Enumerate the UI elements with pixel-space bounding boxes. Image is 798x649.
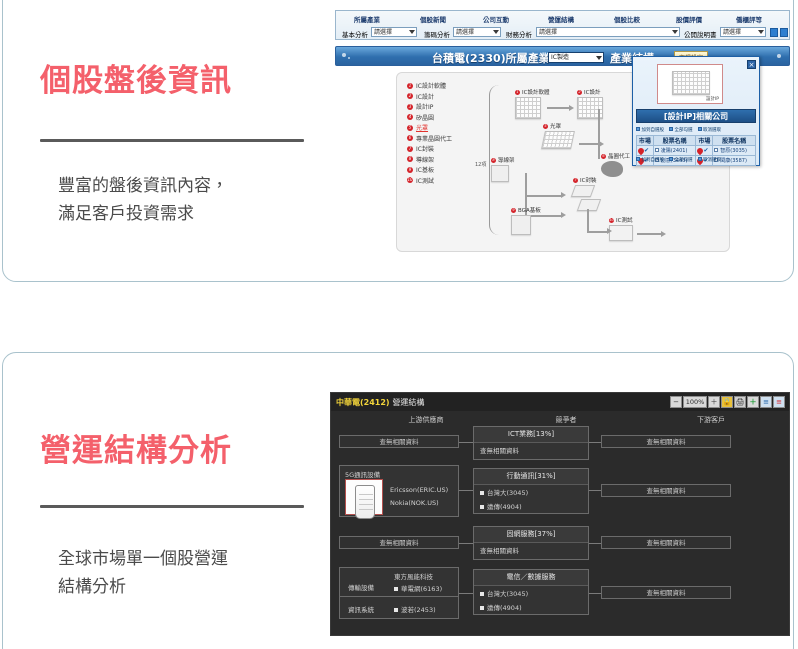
upstream-empty-1[interactable]: 查無相關資料 bbox=[339, 435, 459, 448]
zoom-in-button[interactable]: ＋ bbox=[708, 396, 720, 408]
upstream-card-5g[interactable]: 5G通訊設備 Ericsson(ERIC.US) Nokia(NOK.US) bbox=[339, 465, 459, 517]
col-stock-2: 股票名稱 bbox=[713, 136, 756, 146]
print-icon[interactable]: 🖨 bbox=[734, 396, 746, 408]
divider-bottom bbox=[40, 505, 304, 508]
clear-button[interactable] bbox=[780, 28, 788, 37]
segment-box-telecom[interactable]: 電信／數據服務 台灣大(3045) 遠傳(4904) bbox=[473, 569, 589, 615]
popup-thumbnail: 設計IP bbox=[657, 64, 723, 104]
vendor-name[interactable]: Ericsson(ERIC.US) bbox=[390, 486, 448, 494]
tab-operations[interactable]: 營運結構 bbox=[548, 14, 574, 24]
segment-row: 查無相關資料 bbox=[474, 543, 588, 557]
segment-label: 光罩 bbox=[416, 123, 428, 132]
page-title-bottom: 營運結構分析 bbox=[40, 425, 232, 470]
connector-line bbox=[459, 442, 473, 443]
segment-title: ICT業務[13%] bbox=[474, 427, 588, 443]
segment-item[interactable]: 7IC封裝 bbox=[407, 144, 452, 153]
segment-label: IC設計 bbox=[416, 92, 434, 101]
close-icon[interactable]: × bbox=[747, 60, 756, 69]
selector-tabs-row: 所屬產業 個股新聞 公司互動 營運結構 個股比較 股價評價 僑櫃評等 bbox=[336, 13, 789, 25]
table-header-row: 市場 股票名稱 市場 股票名稱 bbox=[637, 136, 756, 146]
segment-label: 專業晶圓代工 bbox=[416, 134, 452, 143]
selector-inputs-row: 基本分析 請選擇 籌碼分析 請選擇 財務分析 請選擇 公開說明書 請選擇 bbox=[336, 26, 789, 40]
segment-row[interactable]: 遠傳(4904) bbox=[474, 499, 588, 513]
downstream-empty-4[interactable]: 查無相關資料 bbox=[601, 586, 731, 599]
zoom-level-value[interactable]: 100% bbox=[683, 396, 707, 408]
app-title: 中華電(2412) 營運結構 bbox=[336, 397, 424, 408]
segment-label: IC設計軟體 bbox=[416, 81, 446, 90]
node-label: IC設計 bbox=[584, 88, 600, 96]
supplier-company[interactable]: 東方風能科技 bbox=[394, 571, 433, 581]
segment-item[interactable]: 3設計IP bbox=[407, 102, 452, 111]
column-header-upstream: 上游供應商 bbox=[361, 415, 491, 425]
vendor-name[interactable]: Nokia(NOK.US) bbox=[390, 499, 439, 507]
lock-icon[interactable]: 🔒 bbox=[721, 396, 733, 408]
node-label: IC測試 bbox=[616, 216, 632, 224]
label-prospectus: 公開說明書 bbox=[684, 29, 717, 39]
footer-action-deselect[interactable]: 取消選取 bbox=[698, 157, 722, 163]
upstream-empty-3[interactable]: 查無相關資料 bbox=[339, 536, 459, 549]
tab-compare[interactable]: 個股比較 bbox=[614, 14, 640, 24]
dark-app-header: 中華電(2412) 營運結構 − 100% ＋ 🔒 🖨 ＋ ≡ ≡ bbox=[331, 393, 789, 411]
segment-row: 查無相關資料 bbox=[474, 443, 588, 457]
stock-code: 中華電(2412) bbox=[336, 398, 390, 407]
router-image bbox=[345, 479, 383, 515]
list-alt-icon[interactable]: ≡ bbox=[773, 396, 785, 408]
tab-rating[interactable]: 僑櫃評等 bbox=[736, 14, 762, 24]
footer-action-add[interactable]: 加到自選股 bbox=[636, 157, 664, 163]
segment-label: 導線架 bbox=[416, 155, 434, 164]
zoom-out-button[interactable]: − bbox=[670, 396, 682, 408]
segment-title: 電信／數據服務 bbox=[474, 570, 588, 586]
connector-line bbox=[589, 543, 601, 544]
divider-top bbox=[40, 139, 304, 142]
connector-line bbox=[589, 490, 601, 491]
industry-select[interactable]: IC製造 bbox=[548, 52, 604, 63]
connector-line bbox=[459, 490, 473, 491]
industry-title: 台積電(2330)所屬產業 bbox=[432, 50, 550, 66]
screenshot-operating-structure: 中華電(2412) 營運結構 − 100% ＋ 🔒 🖨 ＋ ≡ ≡ 上游供應商 … bbox=[330, 392, 790, 636]
segment-box-fixedline[interactable]: 固網服務[37%] 查無相關資料 bbox=[473, 526, 589, 560]
tab-industry[interactable]: 所屬產業 bbox=[354, 14, 380, 24]
node-label: 導線架 bbox=[498, 156, 515, 164]
add-icon[interactable]: ＋ bbox=[747, 396, 759, 408]
column-header-competitor: 競爭者 bbox=[511, 415, 621, 425]
tab-valuation[interactable]: 股價評價 bbox=[676, 14, 702, 24]
select-financial-analysis[interactable]: 請選擇 bbox=[536, 27, 680, 37]
col-stock-1: 股票名稱 bbox=[653, 136, 696, 146]
node-label: IC封裝 bbox=[580, 176, 596, 184]
upstream-table[interactable]: 傳輸設備 東方風能科技 華電網(6163) 資訊系統 波若(2453) bbox=[339, 567, 459, 619]
segment-item[interactable]: 6專業晶圓代工 bbox=[407, 134, 452, 143]
arrow-connector bbox=[637, 233, 661, 235]
segment-label: 設計IP bbox=[416, 102, 433, 111]
segment-label: IC封裝 bbox=[416, 144, 434, 153]
related-companies-popup: × 設計IP [設計IP]相關公司 加到自選股 全部勾選 取消選取 市場 股票名… bbox=[632, 56, 760, 166]
connector-line bbox=[589, 442, 601, 443]
label-basic-analysis: 基本分析 bbox=[342, 29, 368, 39]
node-leadframe[interactable]: 8導線架 bbox=[491, 165, 509, 182]
action-deselect[interactable]: 取消選取 bbox=[698, 127, 722, 133]
segment-list: 1IC設計軟體 2IC設計 3設計IP 4矽晶圓 5光罩 6專業晶圓代工 7IC… bbox=[407, 81, 452, 186]
market-cell: ✔ bbox=[637, 146, 654, 156]
segment-count-label: 12項 bbox=[475, 161, 486, 168]
list-icon[interactable]: ≡ bbox=[760, 396, 772, 408]
segment-box-ict[interactable]: ICT業務[13%] 查無相關資料 bbox=[473, 426, 589, 460]
description-top: 豐富的盤後資訊內容， 滿足客戶投資需求 bbox=[58, 172, 338, 228]
stock-cell[interactable]: 凌陽(2401) bbox=[653, 146, 696, 156]
segment-row[interactable]: 台灣大(3045) bbox=[474, 485, 588, 499]
market-cell: ✔ bbox=[696, 146, 713, 156]
connector-line bbox=[589, 593, 601, 594]
node-label: 晶圓代工 bbox=[608, 152, 630, 160]
segment-item[interactable]: 2IC設計 bbox=[407, 92, 452, 101]
select-prospectus[interactable]: 請選擇 bbox=[720, 27, 766, 37]
segment-label: IC基板 bbox=[416, 165, 434, 174]
label-chip-analysis: 籌碼分析 bbox=[424, 29, 450, 39]
popup-title: [設計IP]相關公司 bbox=[636, 109, 756, 123]
footer-action-select-all[interactable]: 全部勾選 bbox=[669, 157, 693, 163]
toolbar: − 100% ＋ 🔒 🖨 ＋ ≡ ≡ bbox=[670, 396, 785, 408]
segment-item[interactable]: 1IC設計軟體 bbox=[407, 81, 452, 90]
col-market-2: 市場 bbox=[696, 136, 713, 146]
select-chip-analysis[interactable]: 請選擇 bbox=[453, 27, 501, 37]
supplier-category: 資訊系統 bbox=[348, 604, 374, 614]
arrow-connector bbox=[587, 209, 607, 233]
segment-title: 固網服務[37%] bbox=[474, 527, 588, 543]
action-select-all[interactable]: 全部勾選 bbox=[669, 127, 693, 133]
downstream-empty-3[interactable]: 查無相關資料 bbox=[601, 536, 731, 549]
arrow-connector bbox=[525, 173, 561, 197]
segment-item[interactable]: 9IC基板 bbox=[407, 165, 452, 174]
arrow-connector bbox=[547, 107, 569, 109]
supplier-stock[interactable]: 波若(2453) bbox=[394, 604, 436, 614]
segment-title: 行動通訊[31%] bbox=[474, 469, 588, 485]
page-title-top: 個股盤後資訊 bbox=[40, 55, 232, 100]
node-photomask[interactable]: 5光罩 bbox=[543, 131, 573, 149]
arrow-connector bbox=[598, 109, 600, 159]
column-header-downstream: 下游客戶 bbox=[651, 415, 771, 425]
segment-label: 矽晶圓 bbox=[416, 113, 434, 122]
select-basic-analysis[interactable]: 請選擇 bbox=[371, 27, 417, 37]
go-button[interactable] bbox=[770, 28, 778, 37]
screenshot-stock-industry: 所屬產業 個股新聞 公司互動 營運結構 個股比較 股價評價 僑櫃評等 基本分析 … bbox=[332, 8, 792, 258]
node-label: BGA基板 bbox=[518, 206, 541, 214]
segment-item[interactable]: 10IC測試 bbox=[407, 176, 452, 185]
arrow-connector bbox=[579, 143, 599, 145]
popup-actions: 加到自選股 全部勾選 取消選取 bbox=[636, 125, 756, 134]
segment-item-selected[interactable]: 5光罩 bbox=[407, 123, 452, 132]
downstream-empty-2[interactable]: 查無相關資料 bbox=[601, 484, 731, 497]
downstream-empty-1[interactable]: 查無相關資料 bbox=[601, 435, 731, 448]
tab-interaction[interactable]: 公司互動 bbox=[483, 14, 509, 24]
segment-row[interactable]: 遠傳(4904) bbox=[474, 600, 588, 614]
segment-item[interactable]: 8導線架 bbox=[407, 155, 452, 164]
segment-item[interactable]: 4矽晶圓 bbox=[407, 113, 452, 122]
slide-page: 個股盤後資訊 豐富的盤後資訊內容， 滿足客戶投資需求 所屬產業 個股新聞 公司互… bbox=[0, 0, 798, 649]
popup-thumbnail-caption: 設計IP bbox=[706, 96, 719, 102]
segment-box-mobile[interactable]: 行動通訊[31%] 台灣大(3045) 遠傳(4904) bbox=[473, 468, 589, 514]
node-label: IC設計軟體 bbox=[522, 88, 549, 96]
supplier-category-label: 5G通訊設備 bbox=[345, 469, 380, 479]
connector-line bbox=[459, 593, 473, 594]
node-ic-packaging[interactable]: 7IC封裝 bbox=[573, 185, 593, 197]
connector-line bbox=[459, 543, 473, 544]
analysis-selector-bar: 所屬產業 個股新聞 公司互動 營運結構 個股比較 股價評價 僑櫃評等 基本分析 … bbox=[335, 10, 790, 40]
node-label: 光罩 bbox=[550, 122, 561, 130]
node-bga-substrate[interactable]: 9BGA基板 bbox=[511, 215, 531, 235]
tab-news[interactable]: 個股新聞 bbox=[420, 14, 446, 24]
description-bottom: 全球市場單一個股營運 結構分析 bbox=[58, 545, 348, 601]
col-market-1: 市場 bbox=[637, 136, 654, 146]
supplier-stock[interactable]: 華電網(6163) bbox=[394, 583, 442, 593]
segment-row[interactable]: 台灣大(3045) bbox=[474, 586, 588, 600]
node-ic-testing[interactable]: 10IC測試 bbox=[609, 225, 633, 241]
label-financial-analysis: 財務分析 bbox=[506, 29, 532, 39]
node-ic-design-software[interactable]: 1IC設計軟體 bbox=[515, 97, 541, 119]
segment-label: IC測試 bbox=[416, 176, 434, 185]
popup-footer-actions: 加到自選股 全部勾選 取消選取 bbox=[636, 156, 756, 164]
app-subtitle: 營運結構 bbox=[392, 398, 424, 407]
action-add-to-watchlist[interactable]: 加到自選股 bbox=[636, 127, 664, 133]
table-row[interactable]: ✔ 凌陽(2401) ✔ 智原(3035) bbox=[637, 146, 756, 156]
stock-cell[interactable]: 智原(3035) bbox=[713, 146, 756, 156]
supplier-category: 傳輸設備 bbox=[348, 582, 374, 592]
